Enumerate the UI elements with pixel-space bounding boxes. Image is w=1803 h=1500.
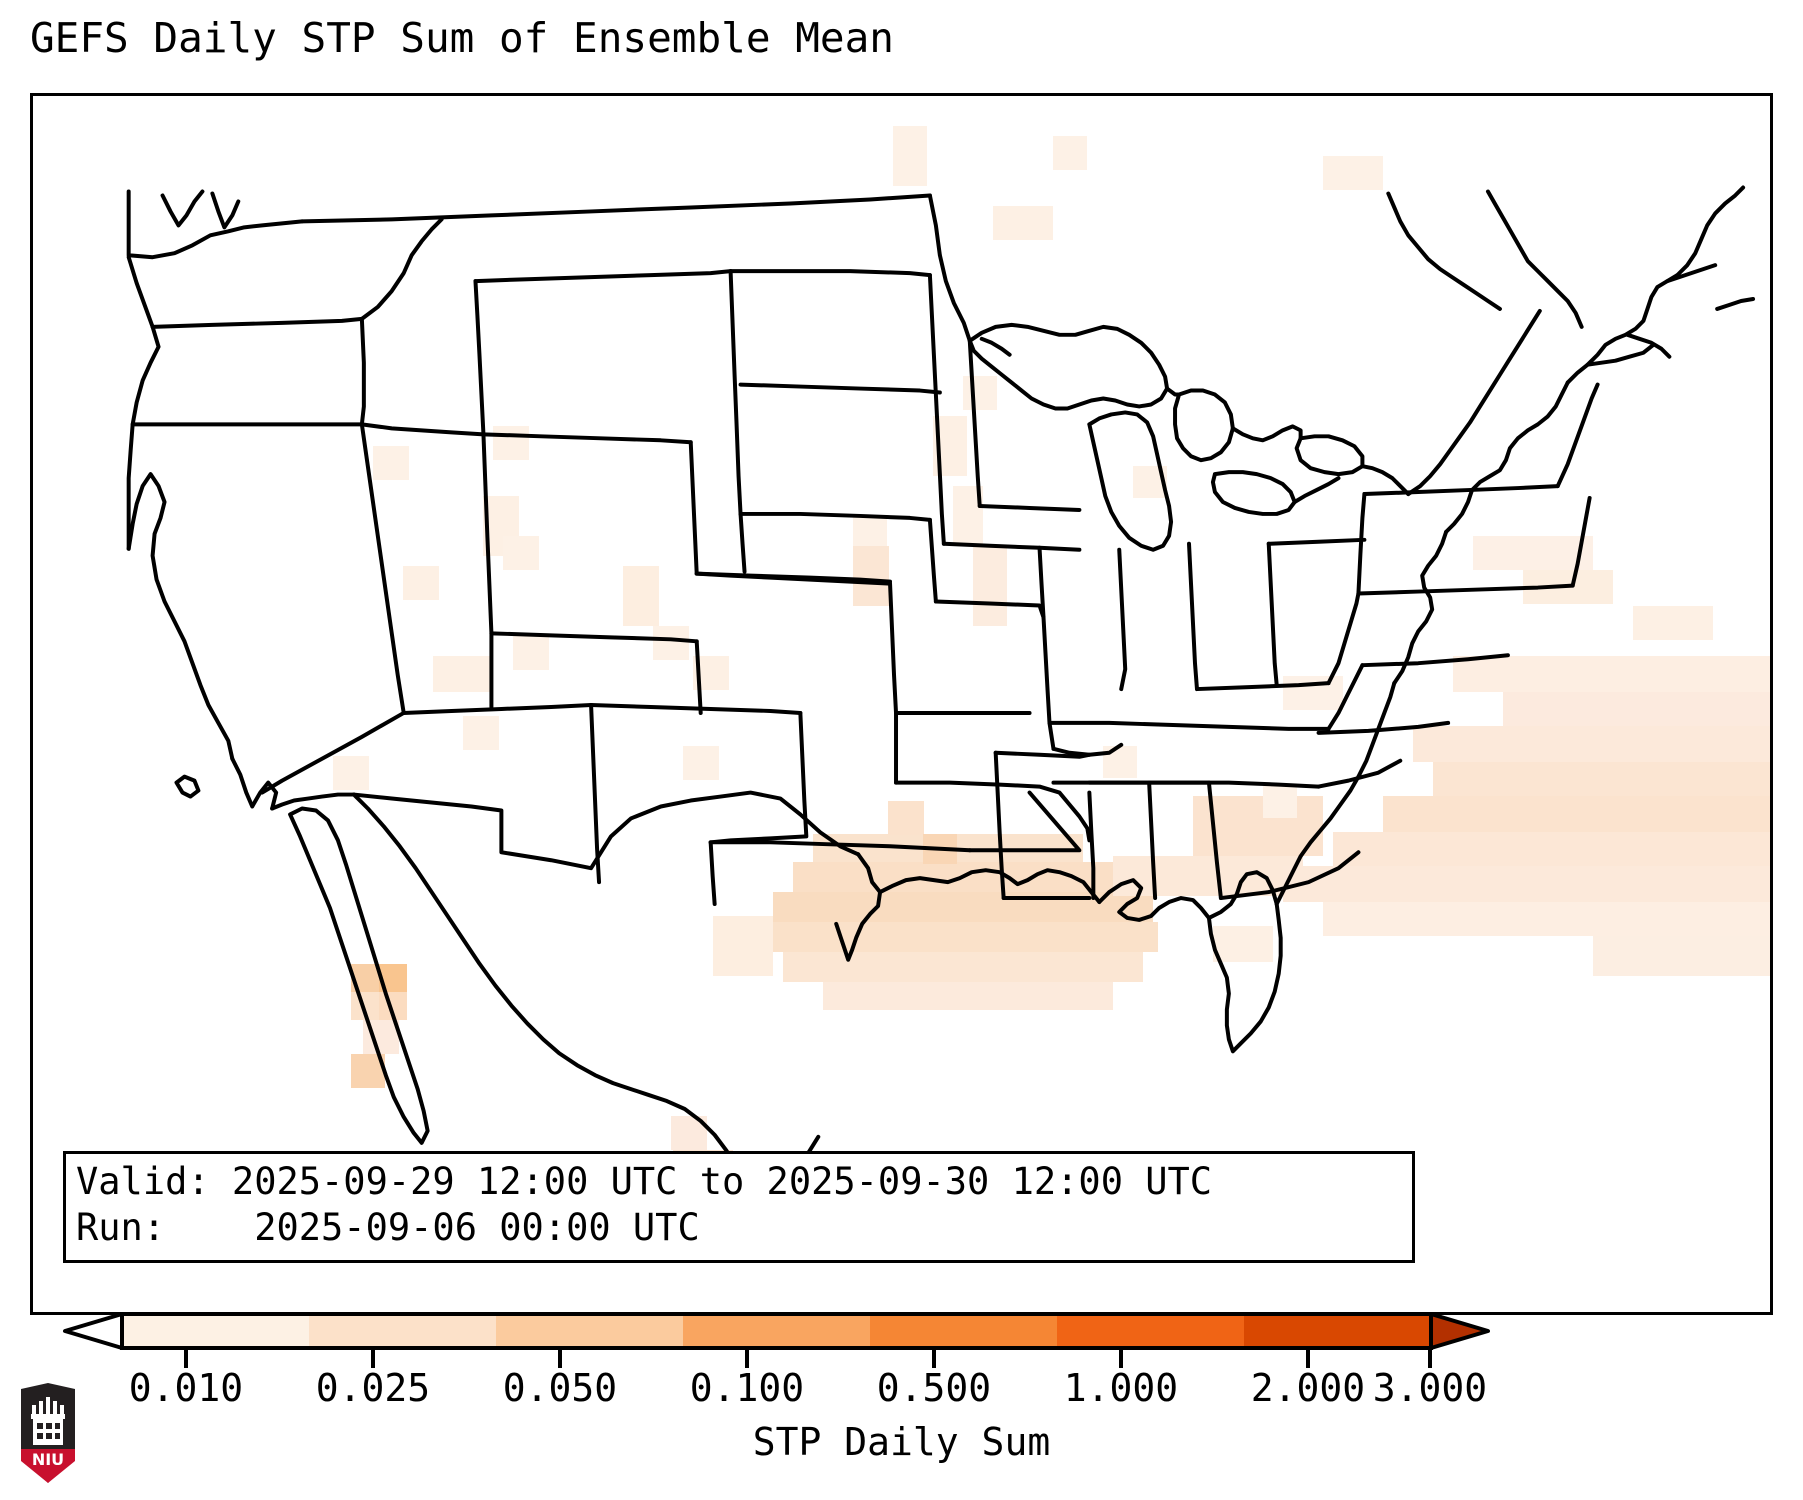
colorbar-tick-label: 0.500 xyxy=(834,1366,1034,1410)
info-box: Valid: 2025-09-29 12:00 UTC to 2025-09-3… xyxy=(63,1151,1415,1263)
map-panel xyxy=(30,93,1773,1315)
run-time-line: Run: 2025-09-06 00:00 UTC xyxy=(76,1206,700,1249)
colorbar-tick-label: 0.050 xyxy=(460,1366,660,1410)
colorbar-tick-labels: 0.010 0.025 0.050 0.100 0.500 1.000 2.00… xyxy=(0,1366,1803,1414)
valid-time-line: Valid: 2025-09-29 12:00 UTC to 2025-09-3… xyxy=(76,1160,1212,1203)
colorbar-tick-label: 0.025 xyxy=(273,1366,473,1410)
colorbar-tick-label: 1.000 xyxy=(1021,1366,1221,1410)
colorbar-tick-label: 3.000 xyxy=(1330,1366,1530,1410)
niu-logo: NIU xyxy=(17,1383,79,1483)
colorbar[interactable] xyxy=(0,1300,1803,1370)
niu-logo-text: NIU xyxy=(32,1450,64,1469)
colorbar-tick-label: 0.100 xyxy=(647,1366,847,1410)
colorbar-svg[interactable] xyxy=(0,1300,1803,1370)
map-outlines xyxy=(33,96,1770,1312)
page-title: GEFS Daily STP Sum of Ensemble Mean xyxy=(30,14,894,62)
colorbar-tick-label: 0.010 xyxy=(86,1366,286,1410)
colorbar-axis-label: STP Daily Sum xyxy=(0,1420,1803,1464)
